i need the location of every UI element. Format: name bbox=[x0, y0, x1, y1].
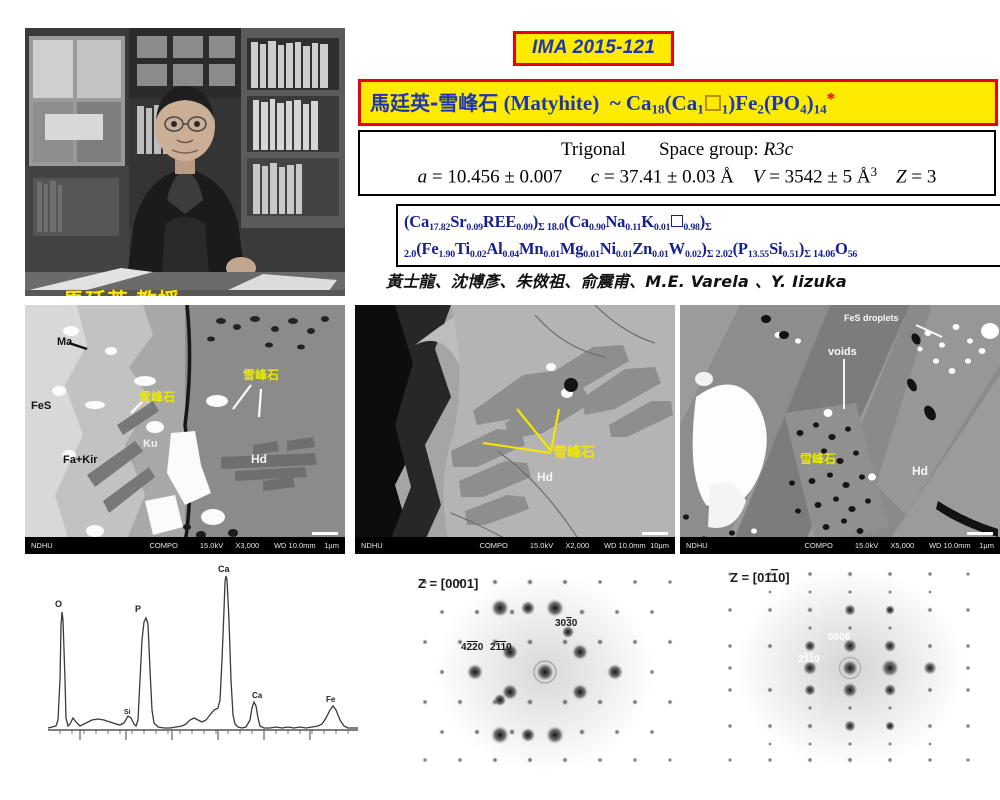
saed-pattern-2-graphic: Z = [0110] 0006 2110 bbox=[700, 560, 1000, 780]
spot-index-0006: 0006 bbox=[828, 632, 851, 643]
saed-pattern-1-graphic: Z = [0001] 4220 2110 3030 bbox=[400, 560, 700, 780]
author-list: 黃士龍、沈博彥、朱傚祖、俞震甫、M.E. Varela 、Y. Iizuka bbox=[386, 268, 847, 292]
sem-mode: COMPO bbox=[480, 541, 530, 550]
mineral-formula: Ca18(Ca11)Fe2(PO4)14 bbox=[626, 91, 827, 115]
eds-spectrum-chart: O P Ca Si Ca Fe bbox=[20, 560, 365, 775]
sem-magnification: X3,000 bbox=[235, 541, 274, 550]
svg-text:雪峰石: 雪峰石 bbox=[800, 451, 836, 466]
vacancy-box-icon bbox=[705, 95, 721, 111]
eds-peak-label-fe: Fe bbox=[326, 695, 336, 704]
chemical-composition-box: (Ca17.82Sr0.09REE0.09)Σ 18.0(Ca0.90Na0.1… bbox=[396, 204, 1000, 267]
sem-lab: NDHU bbox=[680, 541, 805, 550]
sem-voltage: 15.0kV bbox=[530, 541, 566, 550]
svg-text:voids: voids bbox=[828, 346, 857, 358]
bse-micrograph-3-graphic: FeS droplets voids Hd 雪峰石 bbox=[680, 305, 1000, 554]
scale-bar bbox=[312, 532, 338, 535]
approx-symbol: ~ bbox=[610, 91, 621, 115]
spot-index-3030: 3030 bbox=[555, 618, 578, 629]
bse-micrograph-2-graphic: 雪峰石 Hd bbox=[355, 305, 675, 554]
eds-peak-label-ca1: Ca bbox=[218, 564, 230, 574]
svg-text:Fa+Kir: Fa+Kir bbox=[63, 454, 98, 466]
crystallography-box: Trigonal Space group: R3c a = 10.456 ± 0… bbox=[358, 130, 996, 196]
saed-pattern-2: Z = [0110] 0006 2110 bbox=[700, 560, 1000, 780]
sem-scale: 1µm bbox=[967, 541, 1000, 550]
sem-info-bar-3: NDHU COMPO 15.0kV X5,000 WD 10.0mm 1µm bbox=[680, 537, 1000, 554]
ima-number-badge: IMA 2015-121 bbox=[513, 31, 674, 66]
sem-working-distance: WD 10.0mm bbox=[929, 541, 967, 550]
scale-bar bbox=[642, 532, 668, 535]
sem-scale: 10µm bbox=[642, 541, 675, 550]
spot-index-2110: 2110 bbox=[798, 654, 820, 665]
footnote-asterisk: * bbox=[827, 89, 836, 108]
sem-working-distance: WD 10.0mm bbox=[274, 541, 312, 550]
bse-image-2: 雪峰石 Hd NDHU COMPO 15.0kV X2,000 WD 10.0m… bbox=[355, 305, 675, 554]
sem-working-distance: WD 10.0mm bbox=[604, 541, 642, 550]
svg-text:雪峰石: 雪峰石 bbox=[553, 444, 595, 461]
svg-text:Hd: Hd bbox=[537, 470, 553, 484]
mineral-title-banner: 馬廷英-雪峰石 (Matyhite) ~ Ca18(Ca11)Fe2(PO4)1… bbox=[358, 79, 998, 126]
crystal-system: Trigonal bbox=[561, 139, 626, 160]
svg-text:Hd: Hd bbox=[251, 452, 267, 466]
svg-text:Ma: Ma bbox=[57, 336, 73, 348]
sem-voltage: 15.0kV bbox=[200, 541, 236, 550]
mineral-name-latin: (Matyhite) bbox=[504, 91, 600, 115]
eds-peak-label-si: Si bbox=[124, 709, 131, 716]
saed-pattern-1: Z = [0001] 4220 2110 3030 bbox=[400, 560, 700, 780]
svg-text:雪峰石: 雪峰石 bbox=[243, 367, 279, 382]
sem-voltage: 15.0kV bbox=[855, 541, 891, 550]
eds-spectrum-graphic: O P Ca Si Ca Fe bbox=[20, 560, 365, 775]
crystal-system-row: Trigonal Space group: R3c bbox=[360, 139, 994, 161]
sem-info-bar-2: NDHU COMPO 15.0kV X2,000 WD 10.0mm 10µm bbox=[355, 537, 675, 554]
zone-axis-label-1: Z = [0001] bbox=[418, 576, 478, 591]
portrait-illustration bbox=[25, 28, 345, 296]
bse-image-1: Ma FeS Ku Fa+Kir Hd 雪峰石 雪峰石 NDHU COMPO 1… bbox=[25, 305, 345, 554]
mineral-name-cjk: 馬廷英-雪峰石 bbox=[370, 91, 498, 115]
slide-root: 馬廷英 教授 IMA 2015-121 馬廷英-雪峰石 (Matyhite) ~… bbox=[0, 0, 1000, 800]
eds-peak-label-ca2: Ca bbox=[252, 691, 263, 700]
composition-line-2: 04Mn0.01Mg0.01Ni0.01Zn0.01W0.02)Σ 2.02(P… bbox=[510, 239, 858, 258]
vacancy-box-icon bbox=[671, 215, 683, 227]
eds-peak-label-p: P bbox=[135, 604, 141, 614]
svg-text:Ku: Ku bbox=[143, 438, 158, 450]
ima-number-label: IMA 2015-121 bbox=[532, 37, 655, 58]
space-group-value: R3c bbox=[763, 139, 793, 160]
svg-text:FeS: FeS bbox=[31, 400, 51, 412]
svg-text:Hd: Hd bbox=[912, 464, 928, 478]
sem-magnification: X2,000 bbox=[565, 541, 604, 550]
bse-micrograph-1-graphic: Ma FeS Ku Fa+Kir Hd 雪峰石 雪峰石 bbox=[25, 305, 345, 554]
eds-peak-label-o: O bbox=[55, 599, 62, 609]
portrait-caption: 馬廷英 教授 bbox=[63, 285, 180, 296]
zone-axis-label-2: Z = [0110] bbox=[730, 570, 790, 585]
sem-lab: NDHU bbox=[25, 541, 150, 550]
sem-mode: COMPO bbox=[150, 541, 200, 550]
sem-info-bar-1: NDHU COMPO 15.0kV X3,000 WD 10.0mm 1µm bbox=[25, 537, 345, 554]
spot-index-2110: 2110 bbox=[490, 642, 512, 653]
portrait-photo: 馬廷英 教授 bbox=[25, 28, 345, 296]
bse-image-3: FeS droplets voids Hd 雪峰石 NDHU COMPO 15.… bbox=[680, 305, 1000, 554]
spot-index-4220: 4220 bbox=[461, 642, 484, 653]
mineral-title-text: 馬廷英-雪峰石 (Matyhite) ~ Ca18(Ca11)Fe2(PO4)1… bbox=[361, 87, 835, 118]
lattice-parameters-row: a = 10.456 ± 0.007 c = 37.41 ± 0.03 Å V … bbox=[360, 164, 994, 189]
sem-mode: COMPO bbox=[805, 541, 855, 550]
svg-text:FeS droplets: FeS droplets bbox=[844, 313, 899, 323]
sem-scale: 1µm bbox=[312, 541, 345, 550]
sem-lab: NDHU bbox=[355, 541, 480, 550]
svg-text:雪峰石: 雪峰石 bbox=[139, 389, 175, 404]
sem-magnification: X5,000 bbox=[890, 541, 929, 550]
space-group-label: Space group: bbox=[659, 139, 759, 160]
scale-bar bbox=[967, 532, 993, 535]
